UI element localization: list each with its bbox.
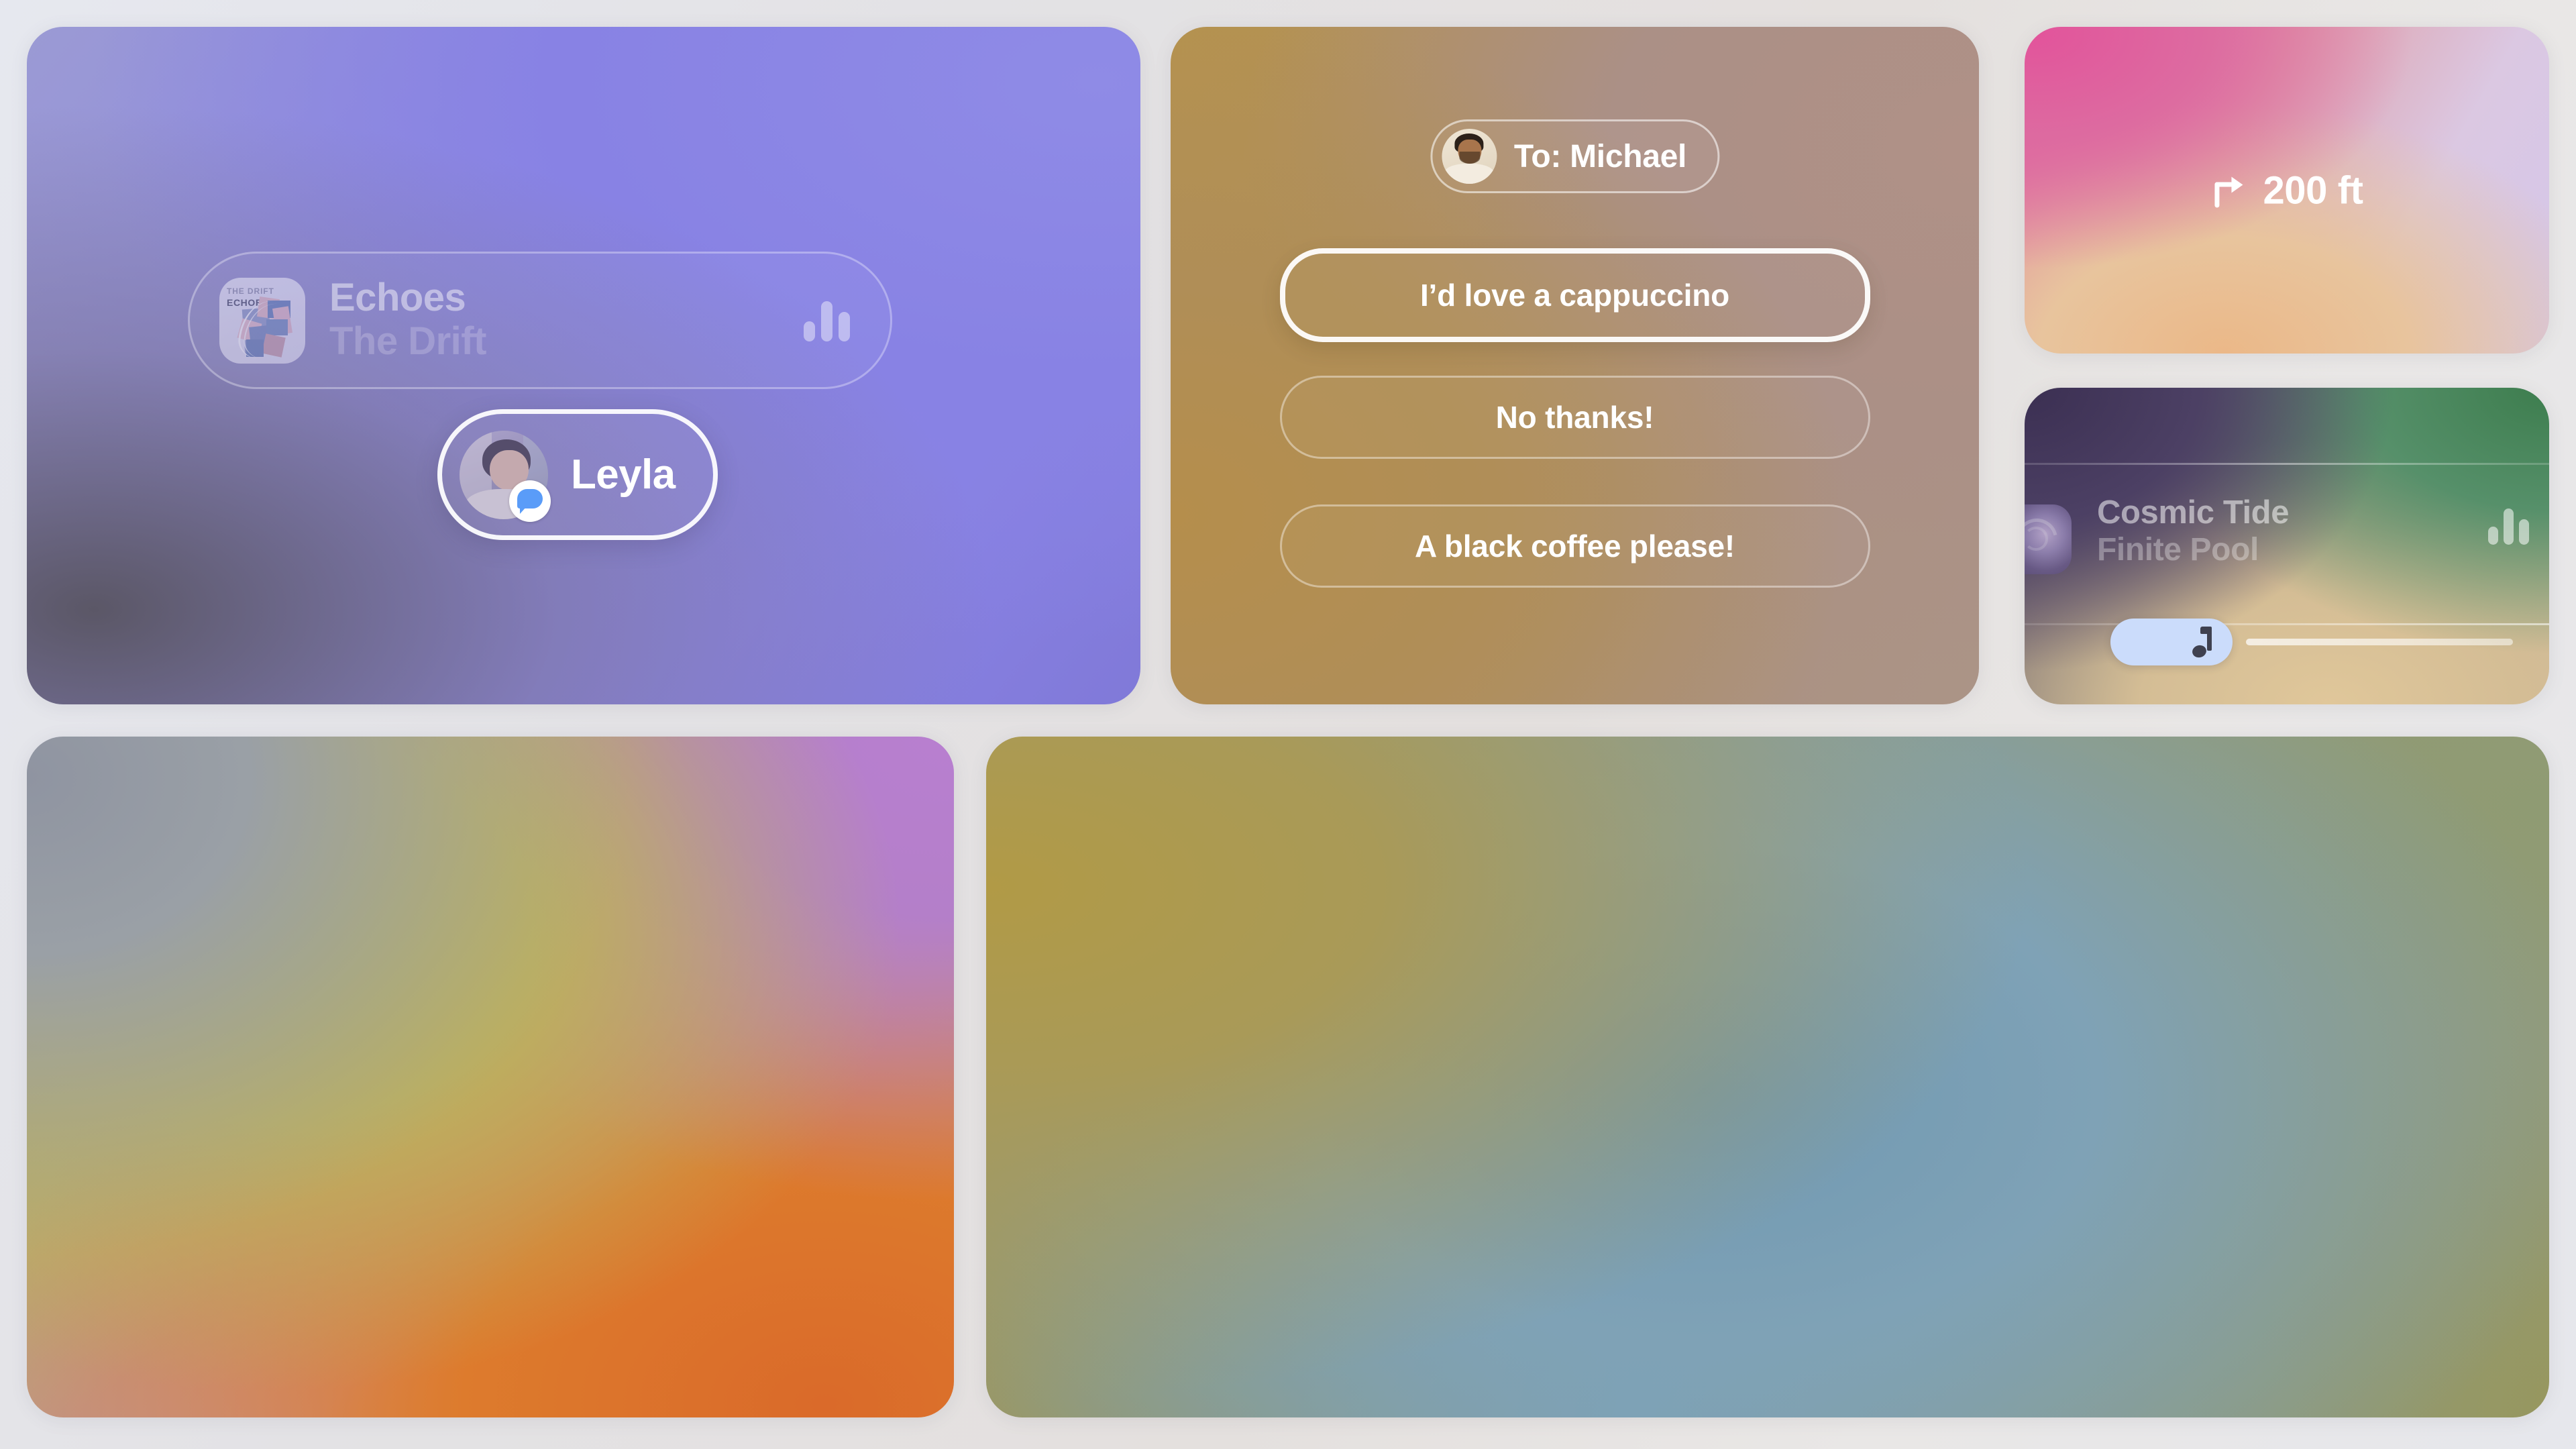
navigation-instruction: 200 ft <box>2210 168 2363 213</box>
equalizer-icon <box>804 300 850 341</box>
recipient-label: To: Michael <box>1514 138 1686 175</box>
track-title: Cosmic Tide <box>2097 495 2289 531</box>
reply-option-2[interactable]: A black coffee please! <box>1280 504 1870 588</box>
reply-option-label: No thanks! <box>1496 399 1654 435</box>
reply-option-label: A black coffee please! <box>1415 528 1735 564</box>
slider-thumb[interactable] <box>2110 619 2233 665</box>
cosmic-player-card[interactable]: Cosmic Tide Finite Pool <box>2025 388 2549 704</box>
playback-slider[interactable] <box>2110 619 2513 665</box>
now-playing-meta: Echoes The Drift <box>329 277 804 363</box>
message-card[interactable]: Leyla Do you want anything from Cafe Cor… <box>986 737 2549 1417</box>
maps-eta-card[interactable]: Arrive 10:08 AM Funky Monkey Gifts 8:32 <box>27 737 954 1417</box>
equalizer-icon <box>2488 507 2529 545</box>
now-playing-card[interactable]: THE DRIFT ECHOES Echoes The Drift <box>27 27 1140 704</box>
track-artist: Finite Pool <box>2097 532 2289 569</box>
divider <box>2025 463 2549 465</box>
track-artist: The Drift <box>329 320 804 364</box>
cosmic-player-meta: Cosmic Tide Finite Pool <box>2097 495 2289 569</box>
turn-right-icon <box>2210 173 2245 208</box>
card-board: THE DRIFT ECHOES Echoes The Drift <box>0 0 2576 1449</box>
reply-option-0[interactable]: I’d love a cappuccino <box>1280 248 1870 342</box>
reply-picker-card[interactable]: To: Michael I’d love a cappuccino No tha… <box>1171 27 1979 704</box>
notification-sender: Leyla <box>571 451 676 498</box>
avatar <box>1442 129 1497 184</box>
music-note-icon <box>2192 627 2215 657</box>
now-playing-pill[interactable]: THE DRIFT ECHOES Echoes The Drift <box>188 252 892 389</box>
track-title: Echoes <box>329 277 804 318</box>
navigation-distance: 200 ft <box>2263 168 2363 213</box>
slider-track[interactable] <box>2246 639 2513 645</box>
messages-icon <box>509 480 551 522</box>
album-art-icon <box>2025 504 2072 574</box>
avatar <box>460 431 548 519</box>
album-art-icon: THE DRIFT ECHOES <box>219 278 305 364</box>
notification-pill[interactable]: Leyla <box>437 409 718 540</box>
navigation-card[interactable]: 200 ft <box>2025 27 2549 354</box>
album-art-top-line: THE DRIFT <box>227 286 274 296</box>
cosmic-player-body: Cosmic Tide Finite Pool <box>2025 463 2549 617</box>
reply-option-label: I’d love a cappuccino <box>1420 277 1729 313</box>
recipient-pill[interactable]: To: Michael <box>1430 119 1719 193</box>
reply-option-1[interactable]: No thanks! <box>1280 376 1870 459</box>
